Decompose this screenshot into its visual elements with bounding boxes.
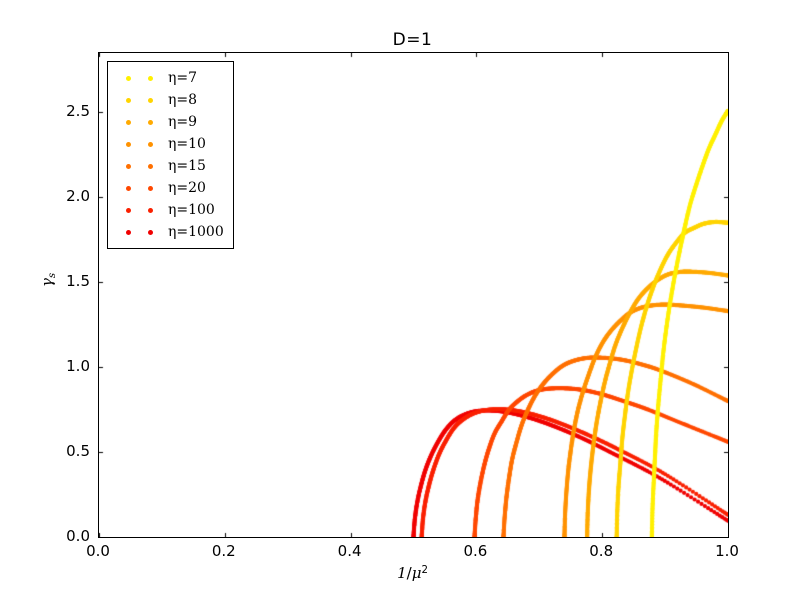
legend-marker-dot: [126, 164, 131, 169]
legend-color-swatch: [113, 230, 165, 235]
legend-marker-dot: [148, 164, 153, 169]
legend-color-swatch: [113, 120, 165, 125]
legend-marker-dot: [148, 142, 153, 147]
legend-color-swatch: [113, 208, 165, 213]
legend-item[interactable]: η=10: [113, 133, 224, 155]
legend-marker-dot: [148, 120, 153, 125]
y-axis-label: γs: [38, 225, 58, 335]
legend-marker-dot: [126, 208, 131, 213]
legend-item[interactable]: η=15: [113, 155, 224, 177]
y-tick-label: 1.0: [66, 357, 90, 375]
legend-marker-dot: [126, 186, 131, 191]
legend-item-label: η=15: [165, 158, 206, 174]
x-tick-label: 1.0: [715, 542, 739, 560]
legend-color-swatch: [113, 186, 165, 191]
y-tick-label: 0.5: [66, 442, 90, 460]
legend-item-label: η=10: [165, 136, 206, 152]
x-tick-label: 0.0: [86, 542, 110, 560]
legend-item[interactable]: η=8: [113, 89, 224, 111]
y-tick-label: 2.0: [66, 187, 90, 205]
y-tick-label: 1.5: [66, 272, 90, 290]
x-tick-label: 0.2: [212, 542, 236, 560]
legend: η=7η=8η=9η=10η=15η=20η=100η=1000: [107, 61, 234, 249]
legend-item-label: η=8: [165, 92, 197, 108]
legend-item[interactable]: η=9: [113, 111, 224, 133]
legend-item[interactable]: η=20: [113, 177, 224, 199]
legend-marker-dot: [148, 186, 153, 191]
legend-item-label: η=100: [165, 202, 215, 218]
legend-item[interactable]: η=100: [113, 199, 224, 221]
x-tick-label: 0.4: [338, 542, 362, 560]
legend-marker-dot: [148, 76, 153, 81]
legend-marker-dot: [126, 76, 131, 81]
y-tick-label: 2.5: [66, 102, 90, 120]
legend-item[interactable]: η=7: [113, 67, 224, 89]
legend-marker-dot: [126, 120, 131, 125]
legend-item-label: η=7: [165, 70, 197, 86]
page-title: D=1: [98, 30, 727, 50]
x-tick-label: 0.6: [463, 542, 487, 560]
legend-item[interactable]: η=1000: [113, 221, 224, 243]
x-tick-label: 0.8: [589, 542, 613, 560]
x-axis-label: 1/μ2: [98, 564, 727, 582]
legend-marker-dot: [126, 142, 131, 147]
legend-marker-dot: [126, 230, 131, 235]
figure: D=1 0.00.51.01.52.02.5 0.00.20.40.60.81.…: [0, 0, 800, 597]
legend-color-swatch: [113, 142, 165, 147]
x-axis-ticks: 0.00.20.40.60.81.0: [98, 542, 727, 564]
legend-item-label: η=1000: [165, 224, 224, 240]
legend-marker-dot: [126, 98, 131, 103]
legend-marker-dot: [148, 230, 153, 235]
legend-color-swatch: [113, 76, 165, 81]
legend-item-label: η=20: [165, 180, 206, 196]
legend-color-swatch: [113, 98, 165, 103]
legend-item-label: η=9: [165, 114, 197, 130]
legend-color-swatch: [113, 164, 165, 169]
legend-marker-dot: [148, 98, 153, 103]
legend-marker-dot: [148, 208, 153, 213]
